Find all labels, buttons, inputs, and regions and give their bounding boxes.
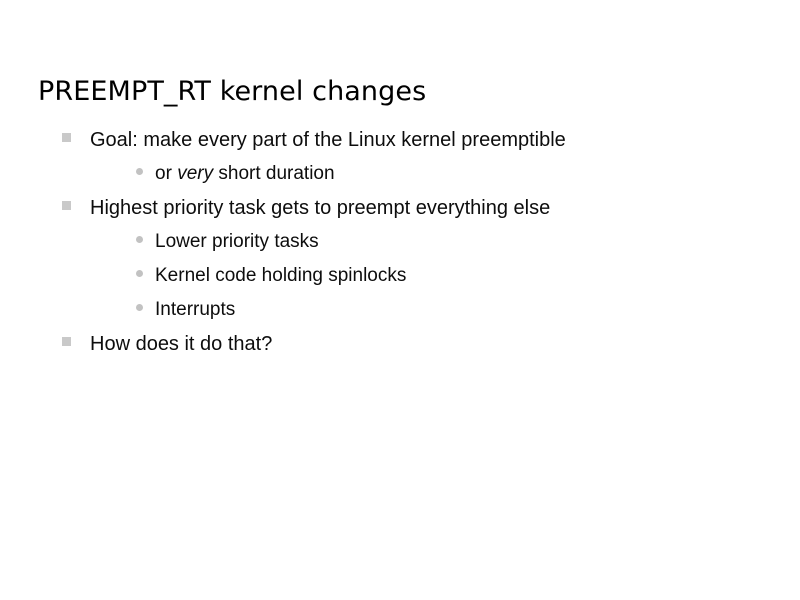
square-bullet-icon: [62, 133, 71, 151]
slide-body-content: Goal: make every part of the Linux kerne…: [0, 128, 800, 366]
list-item-label: or very short duration: [155, 162, 335, 185]
dot-bullet-icon: [136, 268, 143, 286]
dot-bullet-icon: [136, 166, 143, 184]
list-item-label: How does it do that?: [90, 332, 272, 356]
square-bullet-icon: [62, 201, 71, 219]
list-item: How does it do that?: [0, 332, 800, 366]
list-item-label-prefix: or: [155, 163, 177, 184]
list-item: Highest priority task gets to preempt ev…: [0, 196, 800, 230]
page-title: PREEMPT_RT kernel changes: [38, 76, 426, 107]
list-item-label: Kernel code holding spinlocks: [155, 264, 406, 287]
list-item-label-suffix: short duration: [213, 163, 334, 184]
list-item: Interrupts: [0, 298, 800, 332]
dot-bullet-icon: [136, 234, 143, 252]
list-item-label-emphasis: very: [177, 163, 213, 184]
list-item-label: Highest priority task gets to preempt ev…: [90, 196, 550, 220]
dot-bullet-icon: [136, 302, 143, 320]
square-bullet-icon: [62, 337, 71, 355]
list-item: Goal: make every part of the Linux kerne…: [0, 128, 800, 162]
list-item-label: Lower priority tasks: [155, 230, 319, 253]
list-item-label: Goal: make every part of the Linux kerne…: [90, 128, 566, 152]
list-item: Kernel code holding spinlocks: [0, 264, 800, 298]
list-item-label: Interrupts: [155, 298, 235, 321]
presentation-slide: PREEMPT_RT kernel changes Goal: make eve…: [0, 0, 800, 600]
list-item: Lower priority tasks: [0, 230, 800, 264]
list-item: or very short duration: [0, 162, 800, 196]
